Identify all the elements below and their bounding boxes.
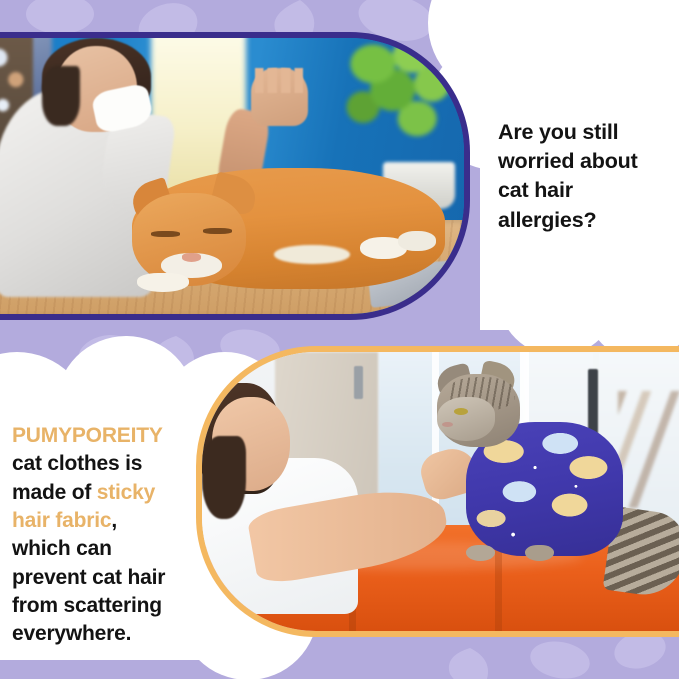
cat-pajama-photo bbox=[202, 352, 679, 631]
body-copy-comma: , bbox=[111, 509, 117, 532]
body-copy-line-3: made of sticky bbox=[12, 479, 208, 507]
photo-ginger-cat-eye-right bbox=[203, 228, 231, 234]
photo-woman-hair-side bbox=[42, 66, 80, 127]
headline-line-1: Are you still bbox=[498, 118, 676, 147]
headline-line-3: cat hair bbox=[498, 176, 676, 205]
photo-woman-fingers bbox=[255, 68, 302, 93]
photo-drying-rack bbox=[618, 391, 679, 508]
photo-ginger-cat-hind-paw-2 bbox=[398, 231, 436, 250]
photo-tabby-cat-face bbox=[437, 397, 496, 442]
highlight-sticky: sticky bbox=[97, 481, 155, 504]
photo-sofa-seam-2 bbox=[495, 542, 502, 631]
headline-line-2: worried about bbox=[498, 147, 676, 176]
brand-name: PUMYPOREITY bbox=[12, 422, 208, 450]
photo-ginger-cat-eye-left bbox=[151, 231, 179, 237]
body-copy-line-2: cat clothes is bbox=[12, 450, 208, 478]
body-copy-line-7: from scattering bbox=[12, 592, 208, 620]
body-copy-line-5: which can bbox=[12, 535, 208, 563]
allergy-sneeze-photo bbox=[0, 38, 464, 314]
highlight-hair-fabric: hair fabric bbox=[12, 509, 111, 532]
body-copy-line-6: prevent cat hair bbox=[12, 564, 208, 592]
photo-houseplant bbox=[336, 38, 459, 182]
photo-panel-allergy bbox=[0, 32, 470, 320]
photo-ginger-cat-front-paws bbox=[137, 273, 189, 292]
photo-woman2-hair-strand bbox=[202, 436, 246, 520]
body-copy-fabric-description: PUMYPOREITY cat clothes is made of stick… bbox=[12, 422, 208, 649]
photo-door-handle bbox=[354, 366, 364, 399]
body-copy-made-of: made of bbox=[12, 481, 97, 504]
photo-ginger-cat-nose bbox=[182, 253, 201, 261]
body-copy-line-4: hair fabric, bbox=[12, 507, 208, 535]
headline-line-4: allergies? bbox=[498, 206, 676, 235]
infographic-canvas: Are you still worried about cat hair all… bbox=[0, 0, 679, 679]
body-copy-line-8: everywhere. bbox=[12, 620, 208, 648]
photo-ginger-cat-belly bbox=[274, 245, 350, 264]
photo-panel-pajama bbox=[196, 346, 679, 637]
headline-allergy-question: Are you still worried about cat hair all… bbox=[498, 118, 676, 235]
